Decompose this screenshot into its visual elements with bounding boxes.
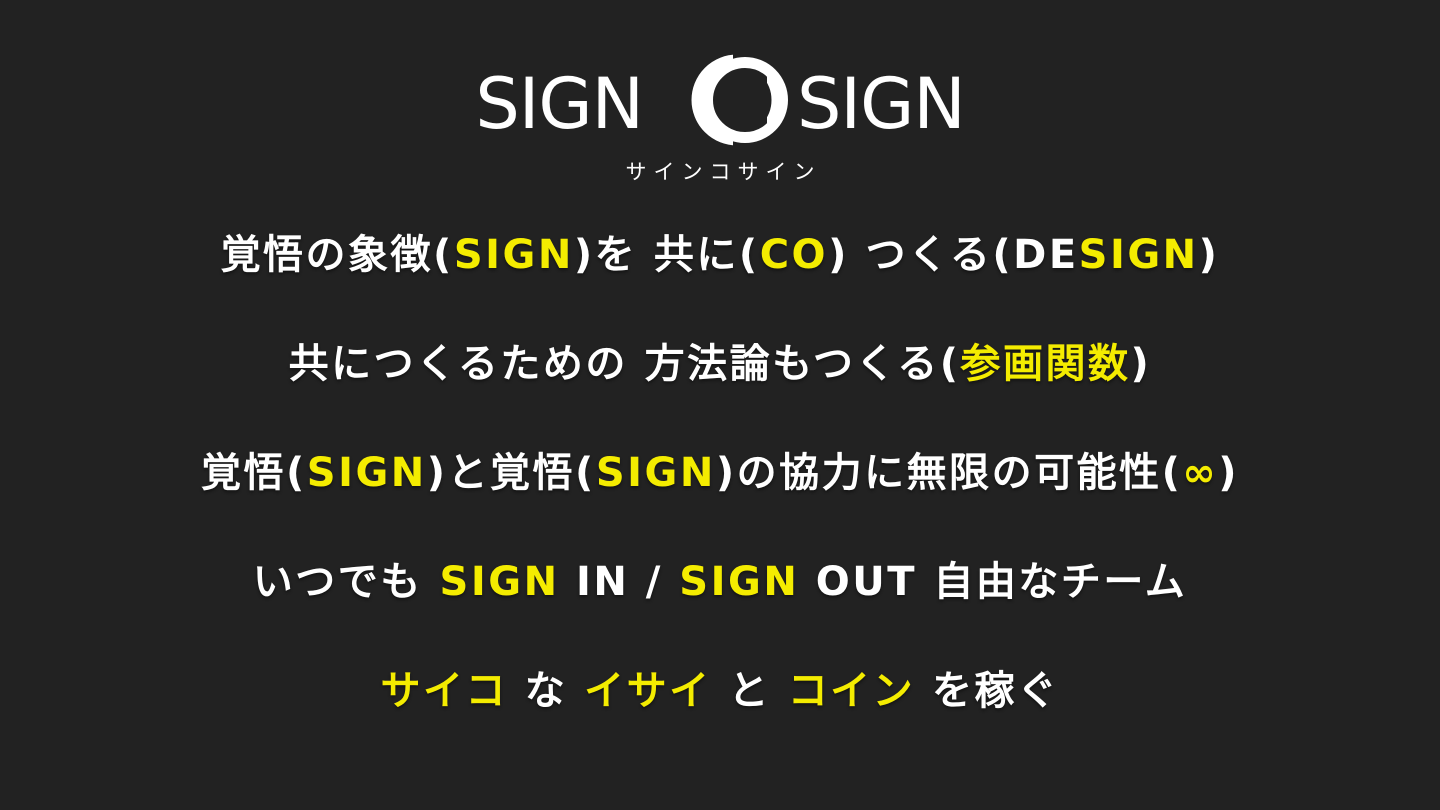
- tagline-text: つくる(DE: [866, 232, 1079, 278]
- tagline-3: 覚悟(SIGN)と覚悟(SIGN)の協力に無限の可能性(∞): [201, 453, 1239, 493]
- brand-logo: SIGN SIGN サインコサイン: [475, 52, 964, 183]
- tagline-text: 覚悟の象徴(: [221, 232, 454, 278]
- tagline-accent-text: サイコ: [381, 668, 509, 714]
- tagline-accent-text: SIGN: [1079, 232, 1199, 278]
- tagline-text: )を: [574, 232, 637, 278]
- logo-wordmark: SIGN SIGN: [475, 52, 964, 148]
- tagline-text: IN /: [560, 559, 680, 605]
- tagline-text: 共に(: [654, 232, 760, 278]
- tagline-text: ): [828, 232, 849, 278]
- tagline-text: ): [1199, 232, 1220, 278]
- co-mark-icon: [633, 52, 809, 148]
- tagline-text: を稼ぐ: [932, 668, 1060, 714]
- tagline-2: 共につくるための方法論もつくる(参画関数): [289, 344, 1152, 384]
- tagline-list: 覚悟の象徴(SIGN)を共に(CO)つくる(DESIGN) 共につくるための方法…: [0, 235, 1440, 711]
- tagline-accent-text: SIGN: [596, 450, 716, 496]
- tagline-accent-text: 参画関数: [961, 341, 1131, 387]
- logo-word-left: SIGN: [475, 69, 643, 139]
- tagline-text: OUT: [799, 559, 933, 605]
- tagline-text: )の協力に無限の可能性(: [716, 450, 1183, 496]
- tagline-text: 覚悟(: [201, 450, 307, 496]
- tagline-text: 共につくるための: [289, 341, 628, 387]
- tagline-1: 覚悟の象徴(SIGN)を共に(CO)つくる(DESIGN): [221, 235, 1220, 275]
- tagline-text: ): [1131, 341, 1152, 387]
- slide-root: SIGN SIGN サインコサイン 覚悟の象徴(SIGN)を共に(CO)つくる(…: [0, 0, 1440, 810]
- tagline-accent-text: SIGN: [307, 450, 427, 496]
- tagline-text: 自由なチーム: [933, 559, 1187, 605]
- tagline-accent-text: SIGN: [679, 559, 799, 605]
- tagline-accent-text: CO: [760, 232, 828, 278]
- tagline-accent-text: コイン: [788, 668, 916, 714]
- tagline-text: いつでも: [253, 559, 423, 605]
- tagline-text: と: [728, 668, 771, 714]
- tagline-accent-text: ∞: [1182, 450, 1218, 496]
- tagline-4: いつでもSIGN IN / SIGN OUT 自由なチーム: [253, 562, 1187, 602]
- logo-word-right: SIGN: [797, 69, 965, 139]
- tagline-accent-text: SIGN: [454, 232, 574, 278]
- tagline-text: な: [525, 668, 568, 714]
- logo-subtitle: サインコサイン: [619, 162, 822, 183]
- tagline-text: )と覚悟(: [427, 450, 596, 496]
- tagline-5: サイコなイサイとコインを稼ぐ: [381, 671, 1060, 711]
- tagline-text: 方法論もつくる(: [645, 341, 961, 387]
- tagline-text: ): [1218, 450, 1239, 496]
- tagline-accent-text: SIGN: [440, 559, 560, 605]
- tagline-accent-text: イサイ: [584, 668, 712, 714]
